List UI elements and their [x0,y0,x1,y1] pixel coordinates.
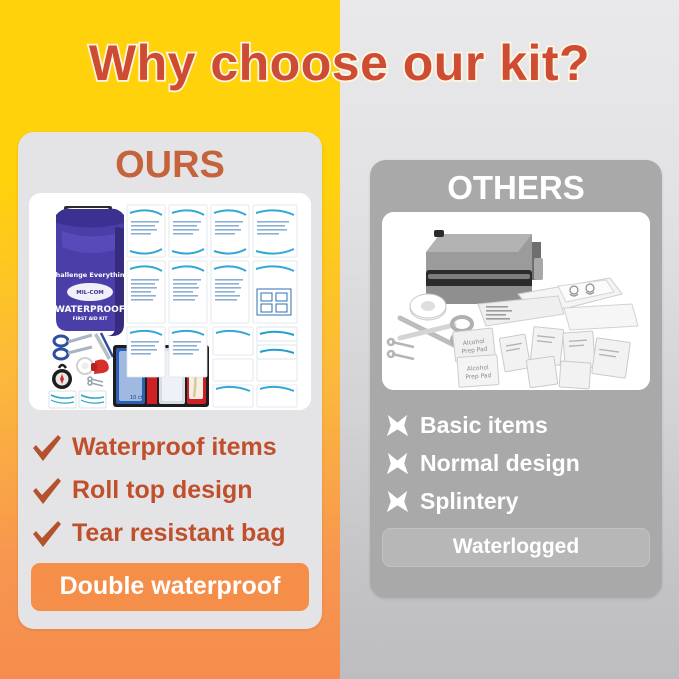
list-item: Roll top design [30,469,322,512]
dry-bag: MIL-COM Challenge Everything WATERPROOF … [51,206,130,336]
list-item: Waterproof items [30,426,322,469]
check-icon [30,519,64,549]
feature-label: Normal design [420,450,580,477]
others-product-photo: Alcohol Prep Pad Alcohol Prep Pad [382,212,650,390]
ours-panel-title: OURS [18,146,322,184]
check-icon [30,433,64,463]
feature-label: Splintery [420,488,518,515]
list-item: Splintery [384,482,662,520]
alcohol-prep-pads: Alcohol Prep Pad Alcohol Prep Pad [453,328,499,387]
page-title: Why choose our kit? [0,34,679,92]
others-panel: OTHERS [370,160,662,598]
waterproof-dry-bag-kit-illustration: MIL-COM Challenge Everything WATERPROOF … [29,193,311,410]
ours-panel: OURS MIL-COM Challenge Everything WATERP… [18,132,322,629]
feature-label: Basic items [420,412,548,439]
double-waterproof-badge: Double waterproof [31,563,309,611]
waterlogged-badge: Waterlogged [382,528,650,567]
ours-product-photo: MIL-COM Challenge Everything WATERPROOF … [29,193,311,410]
x-icon [384,488,411,515]
svg-text:Challenge Everything: Challenge Everything [51,271,130,279]
list-item: Basic items [384,406,662,444]
feature-label: Waterproof items [72,433,277,462]
others-feature-list: Basic items Normal design Splintery [384,406,662,520]
ours-feature-list: Waterproof items Roll top design Tear re… [30,426,322,555]
x-icon [384,450,411,477]
x-icon [384,412,411,439]
check-icon [30,476,64,506]
list-item: Normal design [384,444,662,482]
feature-label: Roll top design [72,476,253,505]
list-item: Tear resistant bag [30,512,322,555]
gray-pouch-kit-illustration: Alcohol Prep Pad Alcohol Prep Pad [382,212,650,390]
svg-text:WATERPROOF: WATERPROOF [55,305,125,315]
others-panel-title: OTHERS [370,171,662,204]
svg-text:10 ct: 10 ct [130,395,143,401]
svg-text:MIL-COM: MIL-COM [76,290,104,296]
tape-roll [410,294,446,320]
feature-label: Tear resistant bag [72,519,286,548]
svg-text:FIRST AID KIT: FIRST AID KIT [73,316,109,322]
comparison-infographic: Why choose our kit? OURS MIL-COM Challen… [0,0,679,679]
